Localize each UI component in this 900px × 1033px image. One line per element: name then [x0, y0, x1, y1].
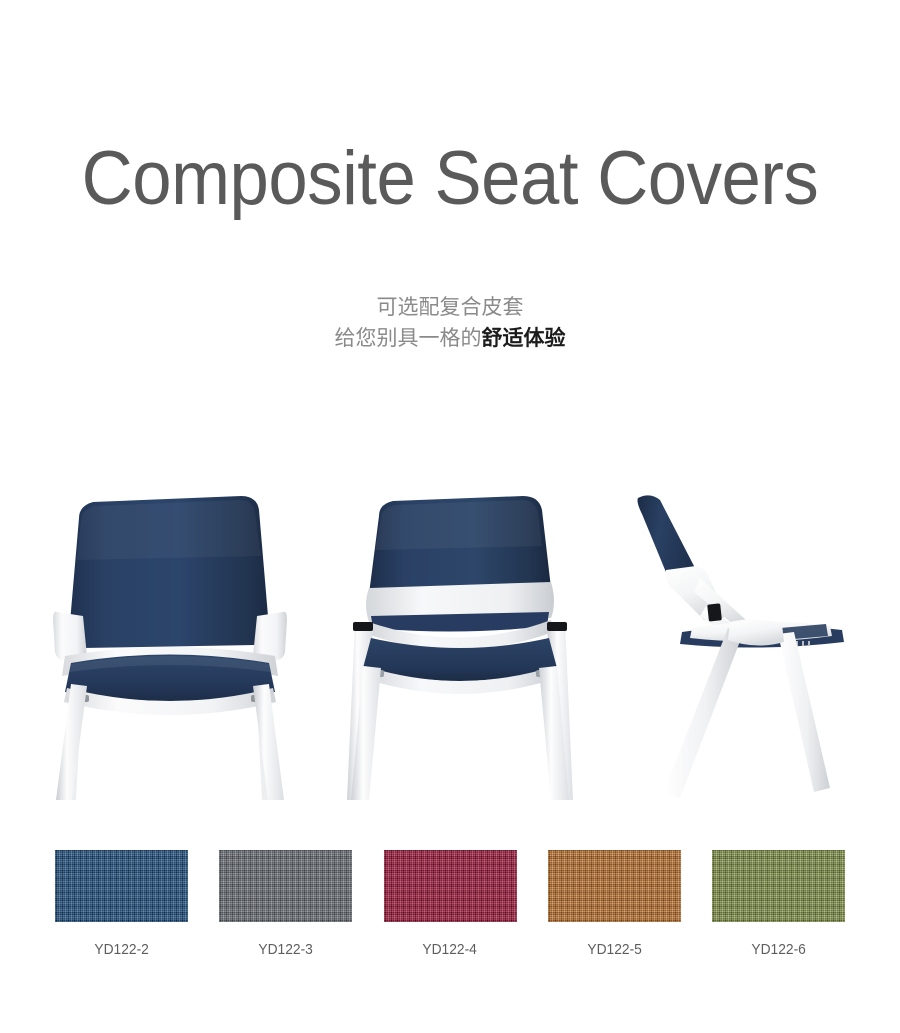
- swatch-chip-olive[interactable]: [712, 850, 845, 922]
- chair-side-view-image: [630, 470, 880, 800]
- swatch-item[interactable]: YD122-5: [548, 850, 681, 959]
- chair-leg-front-profile: [664, 628, 742, 798]
- swatch-item[interactable]: YD122-6: [712, 850, 845, 959]
- chair-pivot-left: [353, 622, 373, 631]
- swatch-chip-grey[interactable]: [219, 850, 352, 922]
- swatch-label: YD122-6: [751, 941, 805, 959]
- swatch-item[interactable]: YD122-3: [219, 850, 352, 959]
- chair-leg-junction: [728, 619, 784, 645]
- subtitle-line-2-normal: 给您别具一格的: [335, 327, 482, 350]
- subtitle-line-2: 给您别具一格的舒适体验: [0, 323, 900, 354]
- swatch-label: YD122-3: [259, 941, 313, 959]
- subtitle-block: 可选配复合皮套 给您别具一格的舒适体验: [0, 292, 900, 354]
- swatch-item[interactable]: YD122-2: [55, 850, 188, 959]
- swatch-label: YD122-5: [587, 941, 641, 959]
- chair-leg-rear-profile: [778, 632, 830, 792]
- swatch-chip-orange[interactable]: [548, 850, 681, 922]
- chair-right-mount: [253, 612, 287, 661]
- chair-pivot-block: [707, 603, 722, 621]
- page-title: Composite Seat Covers: [32, 133, 869, 225]
- swatch-label: YD122-4: [423, 941, 477, 959]
- chair-pivot-right: [547, 622, 567, 631]
- product-image-row: [0, 470, 900, 800]
- swatch-chip-blue[interactable]: [55, 850, 188, 922]
- chair-left-mount: [53, 612, 87, 661]
- subtitle-line-1: 可选配复合皮套: [0, 292, 900, 323]
- swatch-item[interactable]: YD122-4: [384, 850, 517, 959]
- chair-front-leg-left: [56, 684, 87, 800]
- swatch-label: YD122-2: [94, 941, 148, 959]
- chair-back-view-image: [325, 470, 595, 800]
- chair-front-leg-right: [253, 684, 284, 800]
- fabric-swatch-row: YD122-2 YD122-3 YD122-4 YD122-5 YD122-6: [55, 850, 845, 959]
- chair-front-view-image: [35, 470, 305, 800]
- swatch-chip-crimson[interactable]: [384, 850, 517, 922]
- subtitle-line-2-emphasis: 舒适体验: [482, 327, 566, 350]
